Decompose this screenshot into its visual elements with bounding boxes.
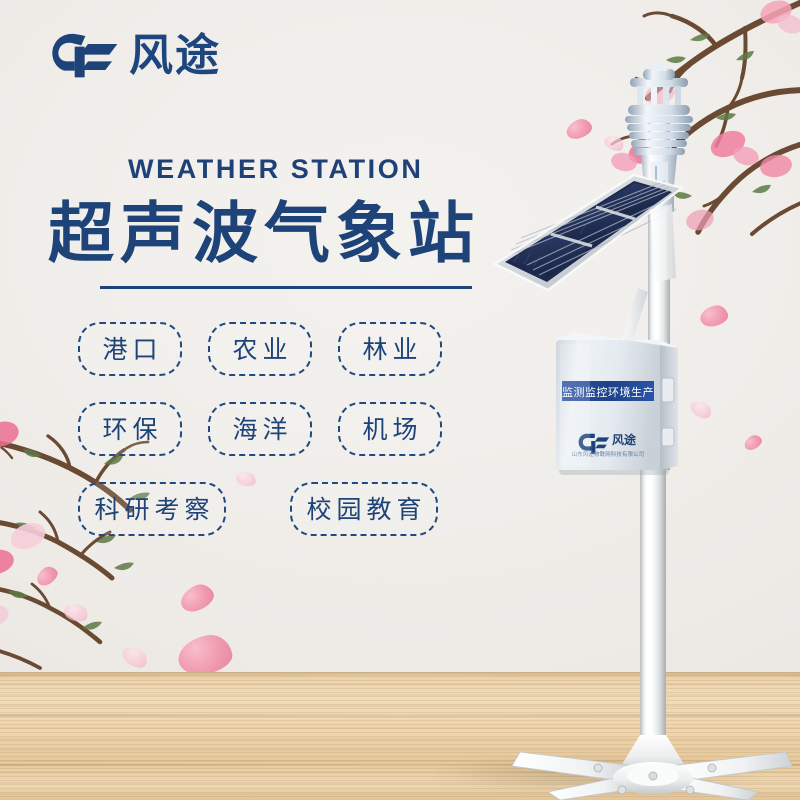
page-title: 超声波气象站 <box>48 196 480 272</box>
tag-ocean[interactable]: 海洋 <box>208 402 312 456</box>
tag-research-survey[interactable]: 科研考察 <box>78 482 226 536</box>
control-box-icon: 监测监控环境生产 风途 山东风途物联网科技有限公司 <box>556 332 678 475</box>
product-banner: 监测监控环境生产 风途 山东风途物联网科技有限公司 <box>0 0 800 800</box>
tag-environment[interactable]: 环保 <box>78 402 182 456</box>
tripod-base-icon <box>512 735 792 800</box>
gf-cloud-logo-icon <box>48 28 120 84</box>
enclosure-brand-text: 风途 <box>612 432 637 447</box>
title-underline <box>100 286 472 289</box>
eyebrow-text: WEATHER STATION <box>128 154 423 185</box>
tag-forestry[interactable]: 林业 <box>338 322 442 376</box>
tag-row-2: 环保 海洋 机场 <box>78 402 498 456</box>
application-tag-list: 港口 农业 林业 环保 海洋 机场 科研考察 校园教育 <box>78 322 498 562</box>
tag-campus-education[interactable]: 校园教育 <box>290 482 438 536</box>
tag-row-3: 科研考察 校园教育 <box>78 482 498 536</box>
brand-name: 风途 <box>129 34 221 78</box>
tag-row-1: 港口 农业 林业 <box>78 322 498 376</box>
brand-logo[interactable]: 风途 <box>48 28 221 84</box>
tag-airport[interactable]: 机场 <box>338 402 442 456</box>
tag-port[interactable]: 港口 <box>78 322 182 376</box>
tag-agriculture[interactable]: 农业 <box>208 322 312 376</box>
